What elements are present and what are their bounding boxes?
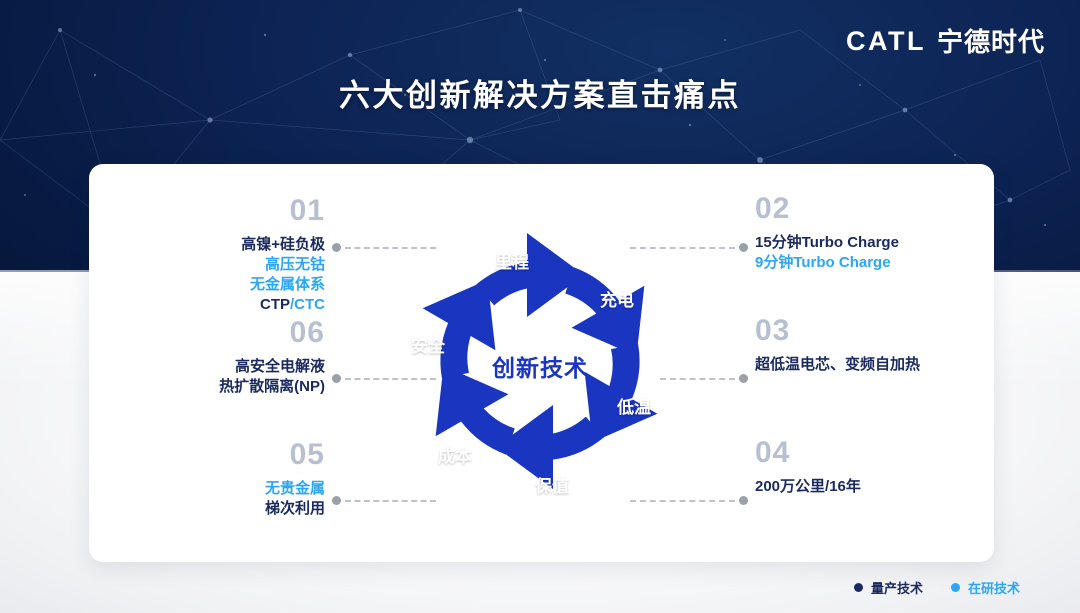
item-line: 梯次利用: [120, 499, 325, 519]
item-line: 9分钟Turbo Charge: [755, 253, 1000, 273]
item-lines: 高镍+硅负极 高压无钴 无金属体系 CTP/CTC: [120, 235, 325, 315]
item-lines: 高安全电解液 热扩散隔离(NP): [120, 357, 325, 397]
wheel-center-label: 创新技术: [383, 349, 697, 383]
wheel-segment-label-mileage: 里程: [495, 248, 529, 273]
item-lines: 无贵金属 梯次利用: [120, 479, 325, 519]
item-lines: 超低温电芯、变频自加热: [755, 355, 1000, 375]
item-lines: 15分钟Turbo Charge 9分钟Turbo Charge: [755, 233, 1000, 273]
legend-item-in-research: 在研技术: [951, 578, 1020, 597]
wheel-segment-label-charging: 充电: [600, 286, 634, 311]
item-line: 高镍+硅负极: [120, 235, 325, 255]
innovation-cycle-diagram: 里程 充电 低温 保值 成本 安全 创新技术: [383, 196, 697, 526]
item-line: 200万公里/16年: [755, 477, 1000, 497]
item-line: 15分钟Turbo Charge: [755, 233, 1000, 253]
wheel-segment-label-lowtemp: 低温: [617, 393, 651, 418]
connector-dot-icon: [739, 243, 748, 252]
slide-root: CATL 宁德时代 六大创新解决方案直击痛点 01 高镍+硅负极 高压无钴 无金…: [0, 0, 1080, 613]
item-line: 无贵金属: [120, 479, 325, 499]
item-number: 04: [755, 438, 1000, 468]
legend-item-mass-production: 量产技术: [854, 578, 923, 597]
connector-dot-icon: [739, 496, 748, 505]
connector-dot-icon: [332, 243, 341, 252]
legend-bullet-icon: [854, 583, 863, 592]
legend-label: 在研技术: [968, 578, 1020, 597]
connector-dot-icon: [332, 374, 341, 383]
item-number: 05: [120, 440, 325, 470]
item-lines: 200万公里/16年: [755, 477, 1000, 497]
connector-dot-icon: [332, 496, 341, 505]
item-line-blue-part: /CTC: [290, 296, 325, 313]
catl-logo: CATL 宁德时代: [846, 28, 1045, 55]
page-title: 六大创新解决方案直击痛点: [0, 70, 1080, 115]
wheel-segment-label-cost: 成本: [438, 442, 472, 467]
solution-item-06: 06 高安全电解液 热扩散隔离(NP): [120, 318, 325, 397]
wheel-segment-label-value: 保值: [535, 472, 569, 497]
solution-item-01: 01 高镍+硅负极 高压无钴 无金属体系 CTP/CTC: [120, 196, 325, 315]
legend-bullet-icon: [951, 583, 960, 592]
item-number: 06: [120, 318, 325, 348]
solution-item-05: 05 无贵金属 梯次利用: [120, 440, 325, 519]
legend: 量产技术 在研技术: [854, 578, 1020, 597]
legend-label: 量产技术: [871, 578, 923, 597]
item-line: 高压无钴: [120, 255, 325, 275]
item-number: 03: [755, 316, 1000, 346]
item-line-dark-part: CTP: [260, 296, 290, 313]
solution-item-03: 03 超低温电芯、变频自加热: [755, 316, 1000, 375]
logo-latin-text: CATL: [846, 28, 926, 55]
item-line: 超低温电芯、变频自加热: [755, 355, 1000, 375]
item-number: 02: [755, 194, 1000, 224]
item-line-mixed: CTP/CTC: [120, 295, 325, 315]
solution-item-02: 02 15分钟Turbo Charge 9分钟Turbo Charge: [755, 194, 1000, 273]
item-line: 热扩散隔离(NP): [120, 377, 325, 397]
item-number: 01: [120, 196, 325, 226]
solution-item-04: 04 200万公里/16年: [755, 438, 1000, 497]
item-line: 无金属体系: [120, 275, 325, 295]
logo-chinese-text: 宁德时代: [937, 29, 1045, 55]
item-line: 高安全电解液: [120, 357, 325, 377]
connector-dot-icon: [739, 374, 748, 383]
